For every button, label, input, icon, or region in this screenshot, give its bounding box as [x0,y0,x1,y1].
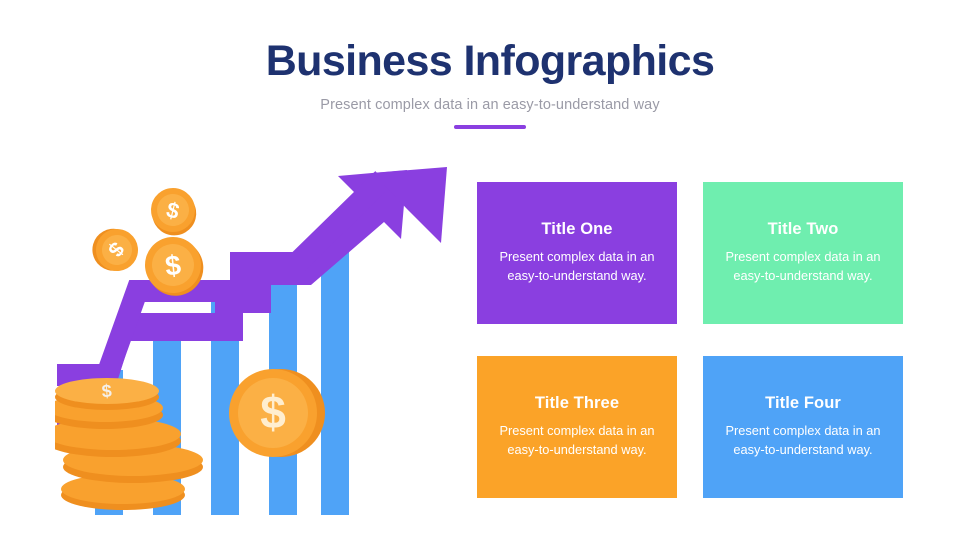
slide-header: Business Infographics Present complex da… [0,38,980,129]
growth-chart-illustration: $ $ $ $ [55,165,455,515]
info-card-two[interactable]: Title Two Present complex data in an eas… [703,182,903,324]
coin-dollar-symbol: $ [101,381,112,402]
info-card-four[interactable]: Title Four Present complex data in an ea… [703,356,903,498]
info-card-three-title: Title Three [535,394,619,413]
info-card-one-title: Title One [541,220,612,239]
info-card-three[interactable]: Title Three Present complex data in an e… [477,356,677,498]
info-card-four-body: Present complex data in an easy-to-under… [719,422,887,459]
info-card-four-title: Title Four [765,394,841,413]
floating-coin-left: $ [84,219,147,281]
infographic-slide: Business Infographics Present complex da… [0,0,980,551]
info-card-one[interactable]: Title One Present complex data in an eas… [477,182,677,324]
floating-coin-top: $ [146,183,202,240]
info-card-one-body: Present complex data in an easy-to-under… [493,248,661,285]
info-card-two-body: Present complex data in an easy-to-under… [719,248,887,285]
title-underline-accent [454,125,526,129]
info-card-three-body: Present complex data in an easy-to-under… [493,422,661,459]
page-subtitle: Present complex data in an easy-to-under… [0,97,980,113]
page-title: Business Infographics [0,38,980,85]
chart-bar [321,247,349,515]
large-coin: $ [229,369,325,457]
info-cards-grid: Title One Present complex data in an eas… [477,182,903,498]
info-card-two-title: Title Two [768,220,839,239]
coin-dollar-symbol: $ [260,386,286,438]
